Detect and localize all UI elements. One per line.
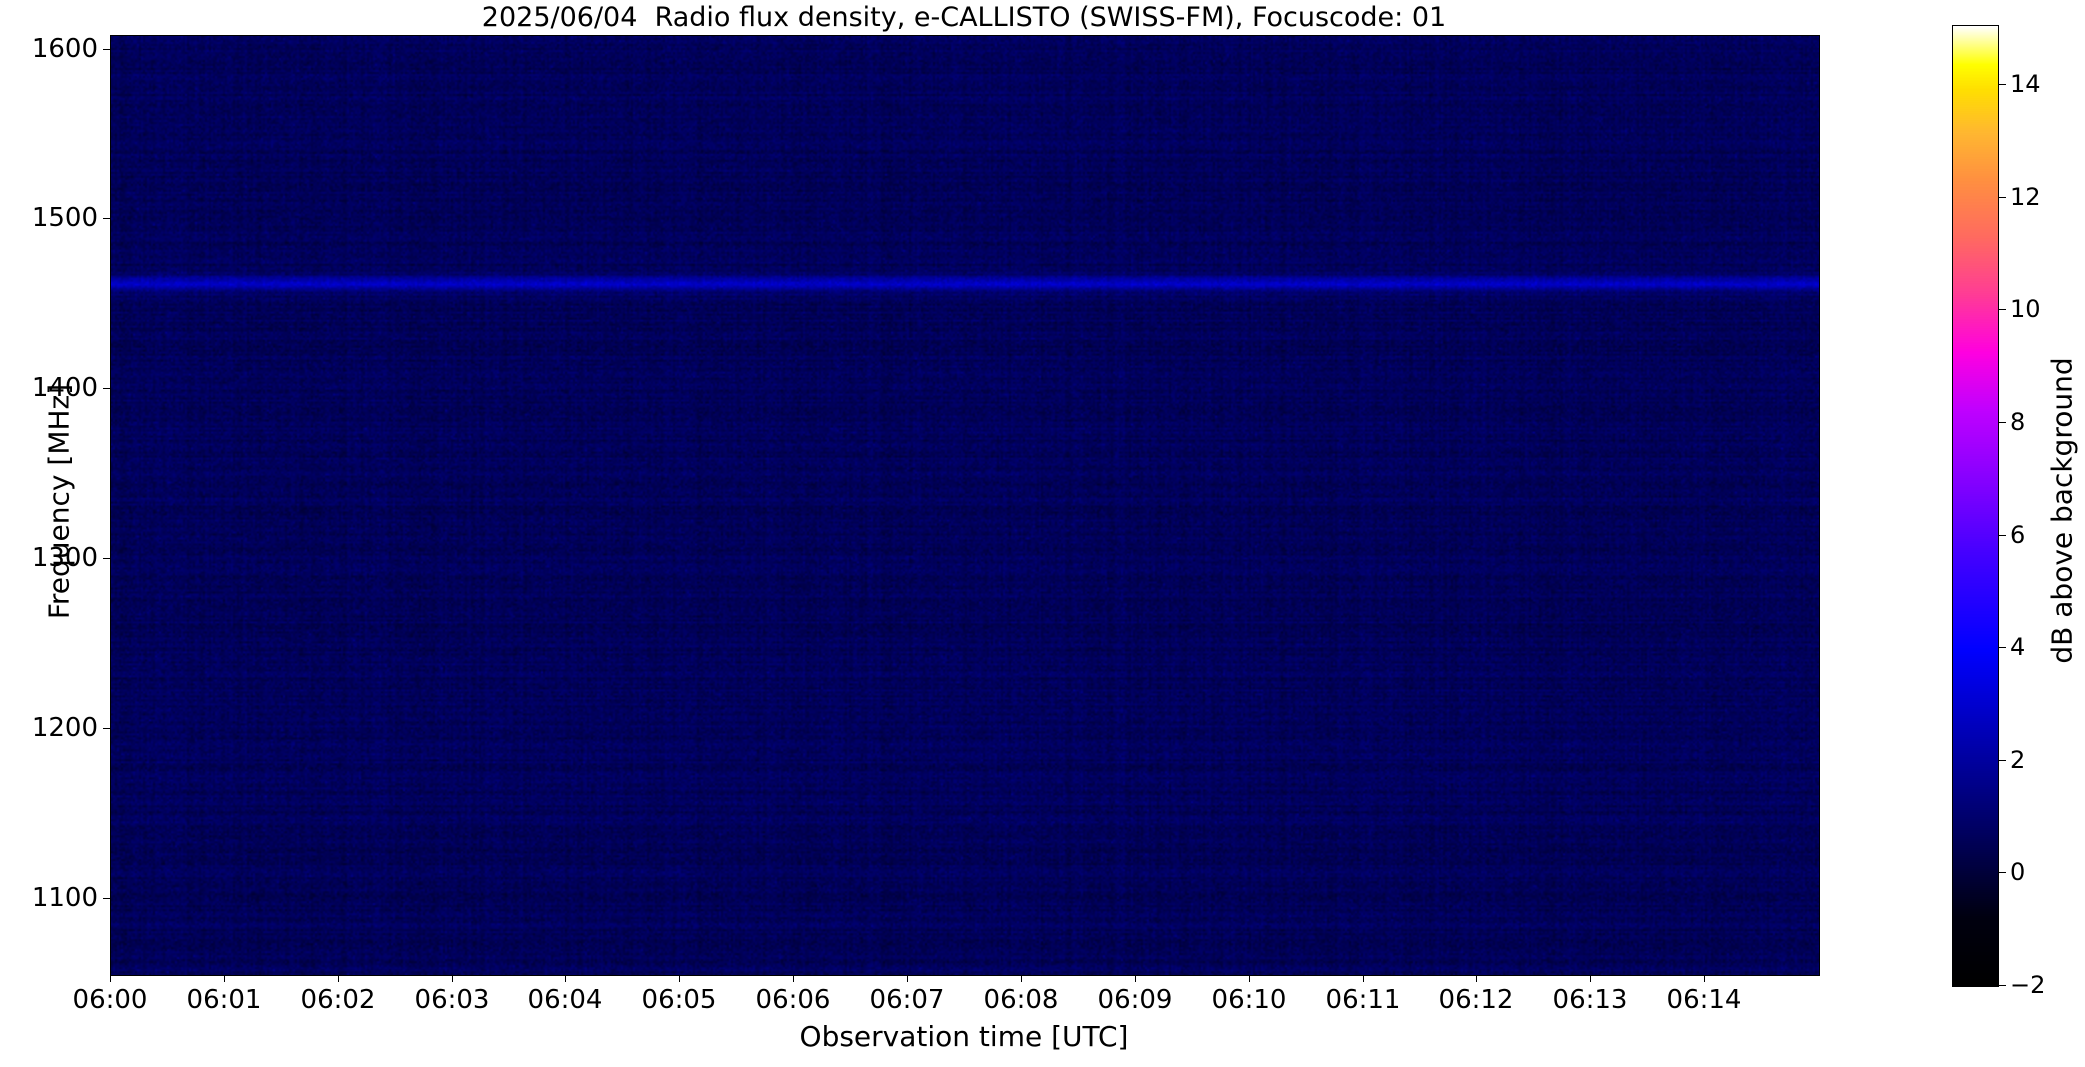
x-tick-mark [110,975,111,982]
x-tick-mark [224,975,225,982]
spectrogram-image [111,36,1819,975]
y-axis-label: Frequency [MHz] [43,2,76,1002]
x-tick-mark [338,975,339,982]
colorbar-tick-mark [1999,309,2006,310]
colorbar-tick-mark [1999,760,2006,761]
x-axis-label: Observation time [UTC] [110,1020,1818,1053]
spectrogram-figure: 2025/06/04 Radio flux density, e-CALLIST… [0,0,2085,1067]
y-tick-mark [103,728,110,729]
colorbar-tick-mark [1999,84,2006,85]
colorbar-tick-mark [1999,647,2006,648]
x-tick-label: 06:14 [1604,985,1804,1015]
x-tick-mark [1363,975,1364,982]
colorbar-tick-mark [1999,197,2006,198]
colorbar-tick-label: 14 [2010,72,2070,96]
colorbar-label: dB above background [2046,201,2079,821]
x-tick-mark [1476,975,1477,982]
y-tick-mark [103,218,110,219]
colorbar[interactable] [1952,25,1999,987]
x-tick-mark [679,975,680,982]
x-tick-mark [1590,975,1591,982]
x-tick-mark [1704,975,1705,982]
x-tick-mark [1249,975,1250,982]
y-tick-mark [103,49,110,50]
y-tick-mark [103,558,110,559]
colorbar-tick-mark [1999,985,2006,986]
colorbar-tick-mark [1999,872,2006,873]
colorbar-tick-label: 0 [2010,860,2070,884]
y-tick-mark [103,388,110,389]
colorbar-tick-label: −2 [2010,973,2070,997]
x-tick-mark [907,975,908,982]
page-title: 2025/06/04 Radio flux density, e-CALLIST… [110,2,1818,34]
x-tick-mark [1021,975,1022,982]
x-tick-mark [565,975,566,982]
spectrogram-plot-area[interactable] [110,35,1820,976]
y-tick-mark [103,898,110,899]
colorbar-tick-mark [1999,422,2006,423]
x-tick-mark [793,975,794,982]
x-tick-mark [452,975,453,982]
colorbar-gradient [1953,26,1998,986]
colorbar-tick-mark [1999,535,2006,536]
x-tick-mark [1135,975,1136,982]
